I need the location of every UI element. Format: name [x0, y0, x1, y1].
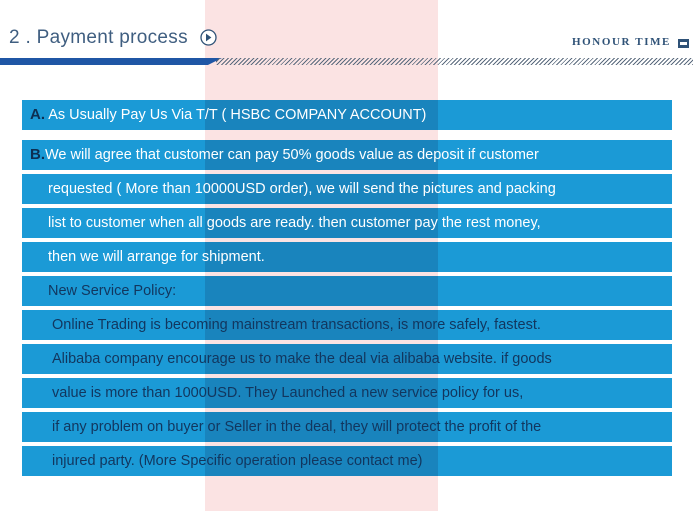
policy-text-2: Alibaba company encourage us to make the… — [22, 344, 672, 374]
policy-text-5: injured party. (More Specific operation … — [22, 446, 672, 476]
slide-header: 2 . Payment process HONOUR TIME — [0, 0, 693, 72]
content-bar-item-a: A. As Usually Pay Us Via T/T ( HSBC COMP… — [22, 100, 672, 130]
content-bar-policy-line-2: Alibaba company encourage us to make the… — [22, 344, 672, 374]
content-bar-b-line-1: B.We will agree that customer can pay 50… — [22, 140, 672, 170]
content-bar-policy-line-4: if any problem on buyer or Seller in the… — [22, 412, 672, 442]
policy-text-3: value is more than 1000USD. They Launche… — [22, 378, 672, 408]
header-rule-solid — [0, 58, 208, 65]
item-label-b: B. — [30, 146, 45, 163]
item-text-a: As Usually Pay Us Via T/T ( HSBC COMPANY… — [45, 107, 426, 123]
item-text-b-2: requested ( More than 10000USD order), w… — [22, 174, 672, 204]
blue-square-icon — [678, 39, 689, 48]
content-bar-policy-heading: New Service Policy: — [22, 276, 672, 306]
circled-right-arrow-icon[interactable] — [200, 29, 217, 52]
content-bar-policy-line-1: Online Trading is becoming mainstream tr… — [22, 310, 672, 340]
item-text-b-1: We will agree that customer can pay 50% … — [45, 147, 539, 163]
content-bar-text: A. As Usually Pay Us Via T/T ( HSBC COMP… — [22, 100, 672, 130]
policy-heading-text: New Service Policy: — [22, 276, 672, 306]
content-bar-text: B.We will agree that customer can pay 50… — [22, 140, 672, 170]
brand-label: HONOUR TIME — [572, 36, 671, 48]
item-text-b-3: list to customer when all goods are read… — [22, 208, 672, 238]
content-bar-policy-line-3: value is more than 1000USD. They Launche… — [22, 378, 672, 408]
content-bar-b-line-3: list to customer when all goods are read… — [22, 208, 672, 238]
item-text-b-4: then we will arrange for shipment. — [22, 242, 672, 272]
content-bar-b-line-2: requested ( More than 10000USD order), w… — [22, 174, 672, 204]
content-bar-policy-line-5: injured party. (More Specific operation … — [22, 446, 672, 476]
content-bar-list: A. As Usually Pay Us Via T/T ( HSBC COMP… — [22, 100, 672, 478]
content-bar-b-line-4: then we will arrange for shipment. — [22, 242, 672, 272]
page-title: 2 . Payment process — [9, 27, 217, 52]
policy-text-4: if any problem on buyer or Seller in the… — [22, 412, 672, 442]
header-rule-hatched — [216, 58, 693, 65]
policy-text-1: Online Trading is becoming mainstream tr… — [22, 310, 672, 340]
item-label-a: A. — [30, 106, 45, 123]
page-title-text: 2 . Payment process — [9, 27, 188, 48]
slide: 2 . Payment process HONOUR TIME A. As Us… — [0, 0, 693, 511]
